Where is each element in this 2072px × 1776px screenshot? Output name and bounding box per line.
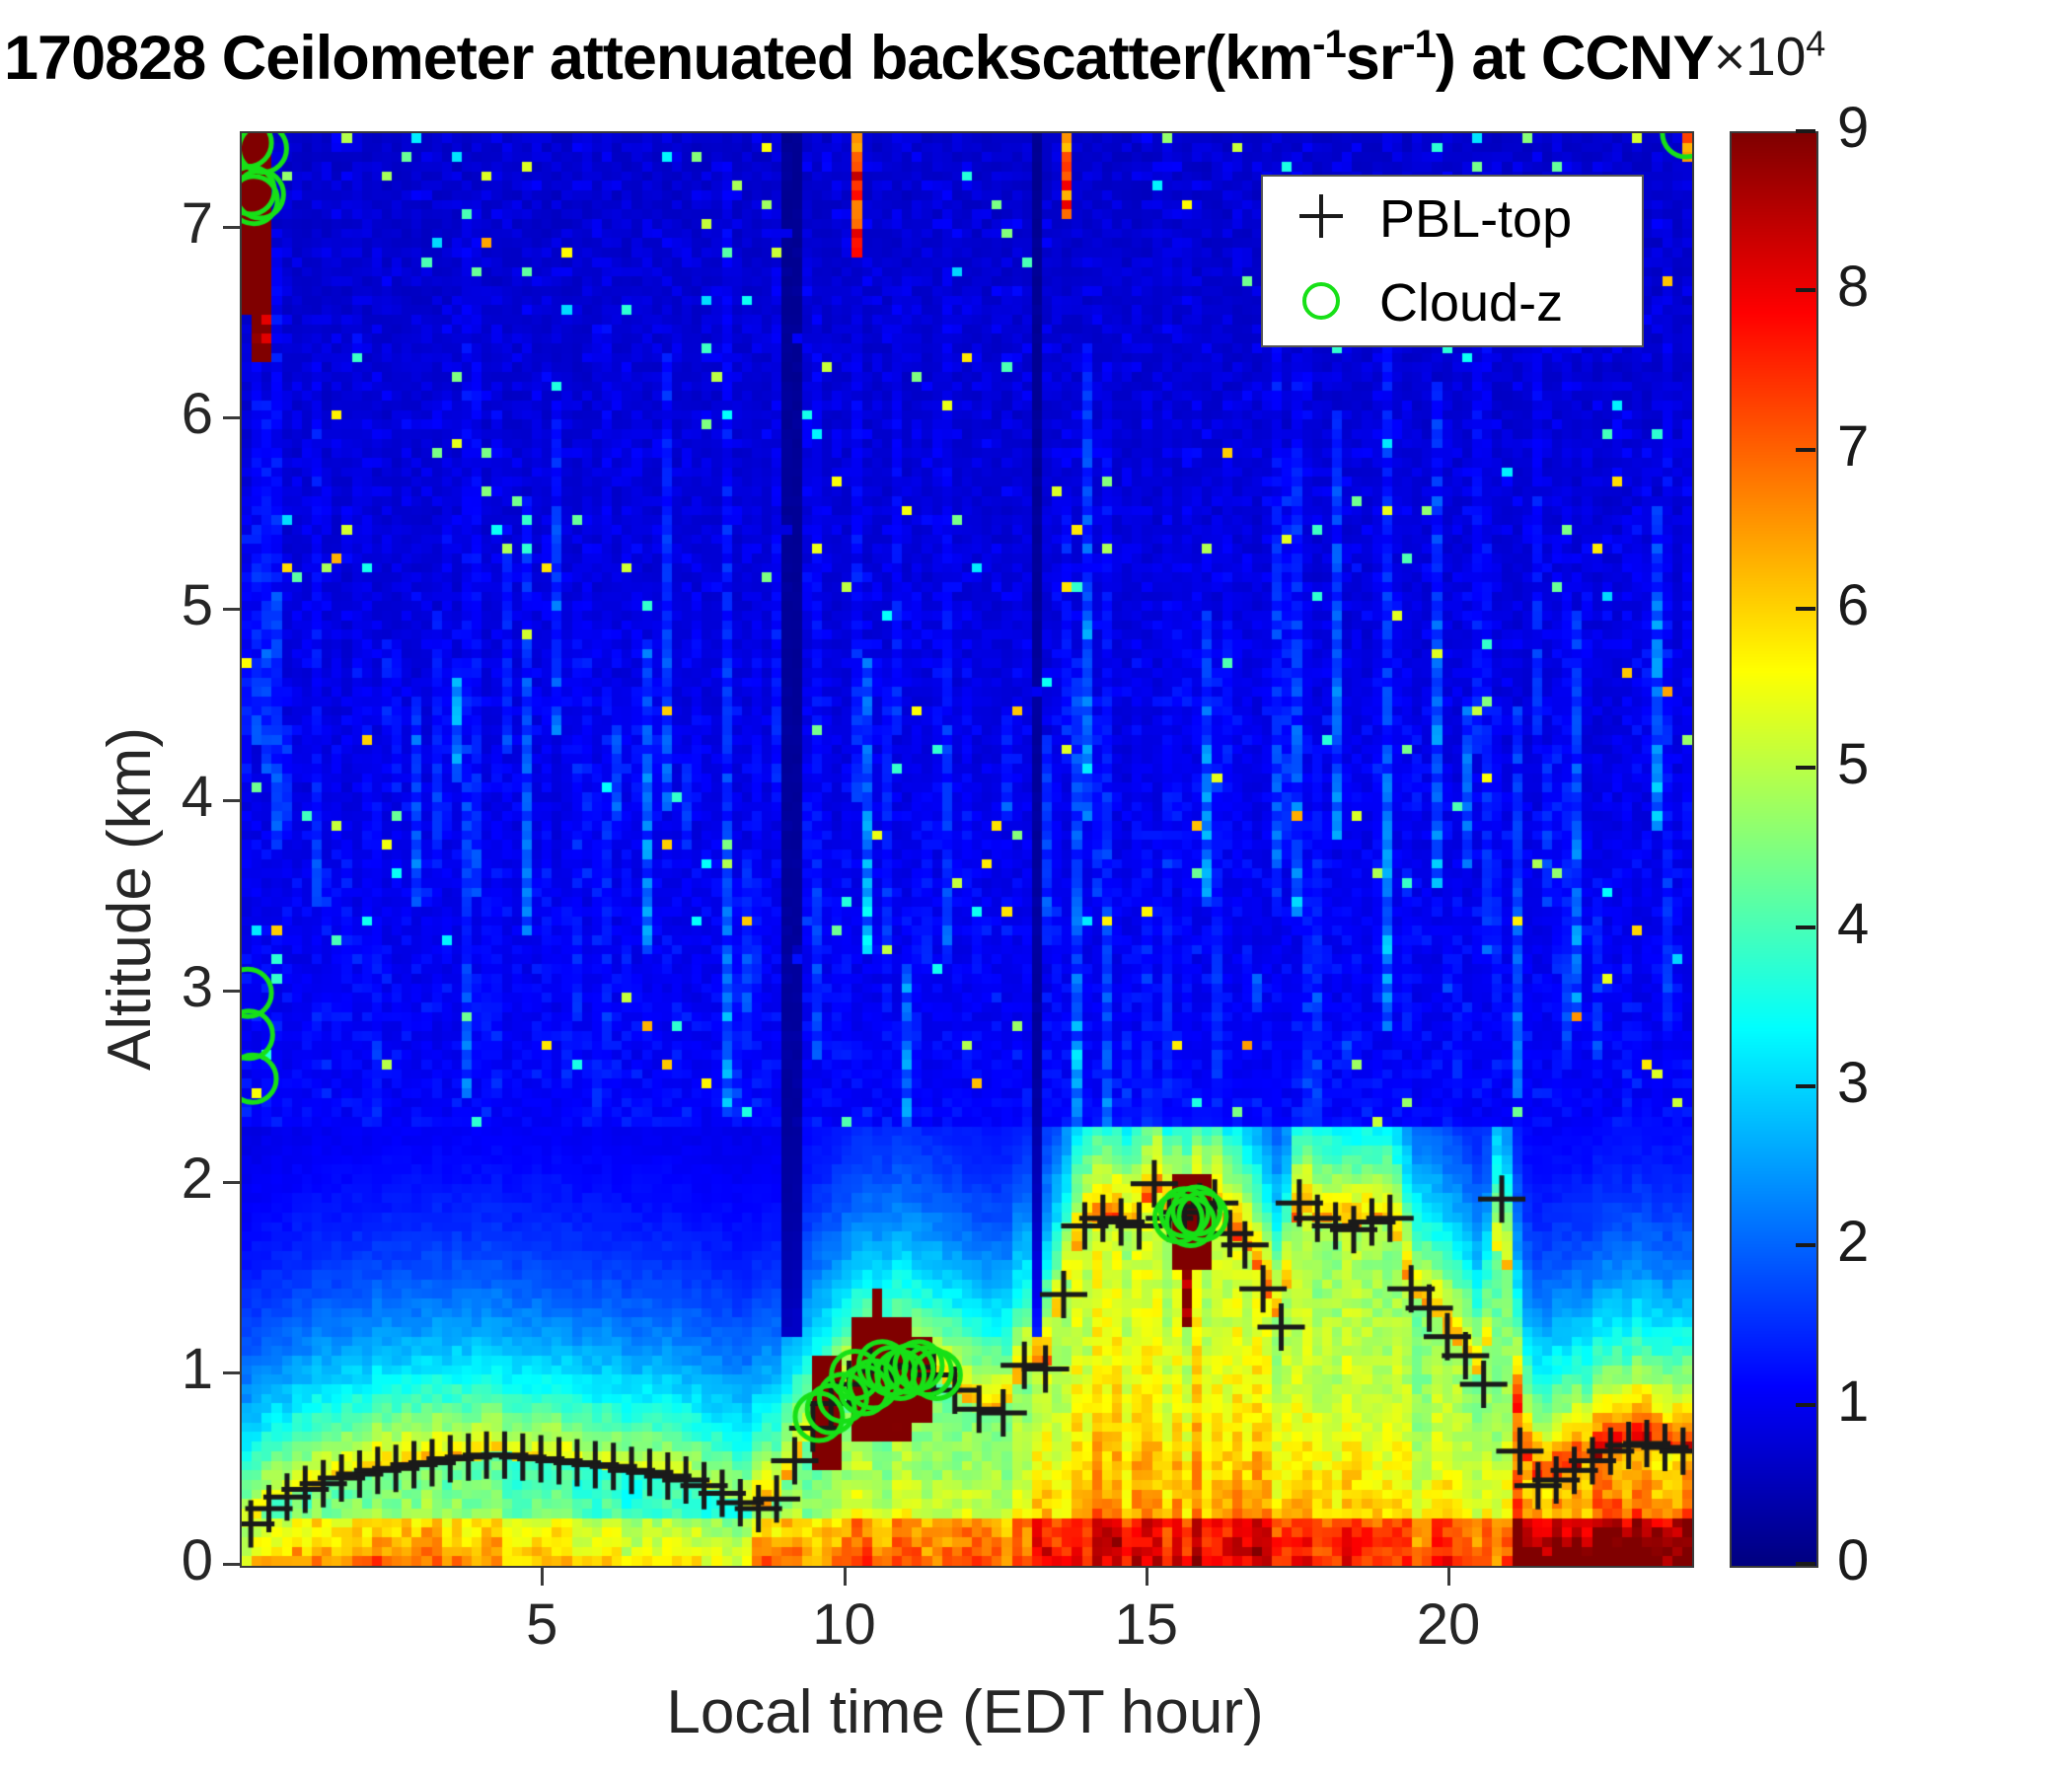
colorbar-tick [1796,288,1815,292]
y-tick-label: 7 [0,195,213,253]
x-tick-label: 20 [1389,1596,1508,1654]
colorbar-tick-label: 1 [1837,1373,1869,1431]
y-tick-label: 2 [0,1150,213,1208]
colorbar-tick [1796,766,1815,770]
colorbar-tick [1796,1562,1815,1566]
x-tick [1146,1566,1148,1586]
colorbar-tick-label: 4 [1837,896,1869,953]
legend-label-cloud-z: Cloud-z [1379,276,1563,330]
colorbar[interactable] [1730,131,1818,1568]
plus-marker-icon [1263,194,1379,243]
y-tick [223,1371,241,1374]
colorbar-tick-label: 9 [1837,100,1869,157]
colorbar-tick-label: 5 [1837,736,1869,793]
title-exponent-1: -1 [1312,23,1346,66]
title-exponent-2: -1 [1402,23,1436,66]
x-tick [541,1566,544,1586]
y-tick-label: 1 [0,1341,213,1398]
y-tick [223,1181,241,1184]
y-tick-label: 5 [0,577,213,634]
colorbar-gradient [1732,133,1816,1566]
colorbar-tick-label: 8 [1837,259,1869,316]
legend-item-pbl-top[interactable]: PBL-top [1263,177,1642,261]
y-tick-label: 6 [0,386,213,443]
figure-canvas: 170828 Ceilometer attenuated backscatter… [0,0,2072,1776]
x-tick [1447,1566,1450,1586]
colorbar-tick [1796,607,1815,611]
title-tail: ) at CCNY [1436,24,1714,93]
marker-overlay [242,133,1692,1566]
colorbar-tick [1796,1243,1815,1247]
plot-legend[interactable]: PBL-top Cloud-z [1261,175,1644,347]
colorbar-tick [1796,925,1815,929]
x-tick-label: 5 [482,1596,601,1654]
colorbar-tick-label: 7 [1837,418,1869,476]
colorbar-multiplier-exponent: 4 [1806,24,1825,64]
title-mid: sr [1346,24,1403,93]
x-tick-label: 10 [785,1596,904,1654]
y-axis-label: Altitude (km) [95,727,165,1071]
colorbar-tick [1796,448,1815,452]
circle-marker-icon [1263,282,1379,325]
colorbar-multiplier: ×104 [1714,30,1825,84]
x-tick [844,1566,847,1586]
y-tick [223,416,241,419]
colorbar-tick-label: 6 [1837,577,1869,634]
colorbar-tick-label: 2 [1837,1214,1869,1271]
y-tick [223,990,241,993]
colorbar-tick [1796,1084,1815,1088]
y-tick [223,1563,241,1566]
y-tick-label: 0 [0,1532,213,1590]
colorbar-multiplier-base: ×10 [1714,26,1806,87]
x-tick-label: 15 [1087,1596,1206,1654]
x-axis-label: Local time (EDT hour) [240,1677,1690,1747]
legend-item-cloud-z[interactable]: Cloud-z [1263,261,1642,346]
y-tick [223,799,241,802]
title-main: 170828 Ceilometer attenuated backscatter… [4,24,1312,93]
y-tick [223,226,241,229]
colorbar-tick [1796,129,1815,133]
colorbar-tick [1796,1403,1815,1407]
colorbar-tick-label: 3 [1837,1055,1869,1112]
y-tick [223,608,241,611]
colorbar-tick-label: 0 [1837,1532,1869,1590]
legend-label-pbl-top: PBL-top [1379,192,1572,246]
